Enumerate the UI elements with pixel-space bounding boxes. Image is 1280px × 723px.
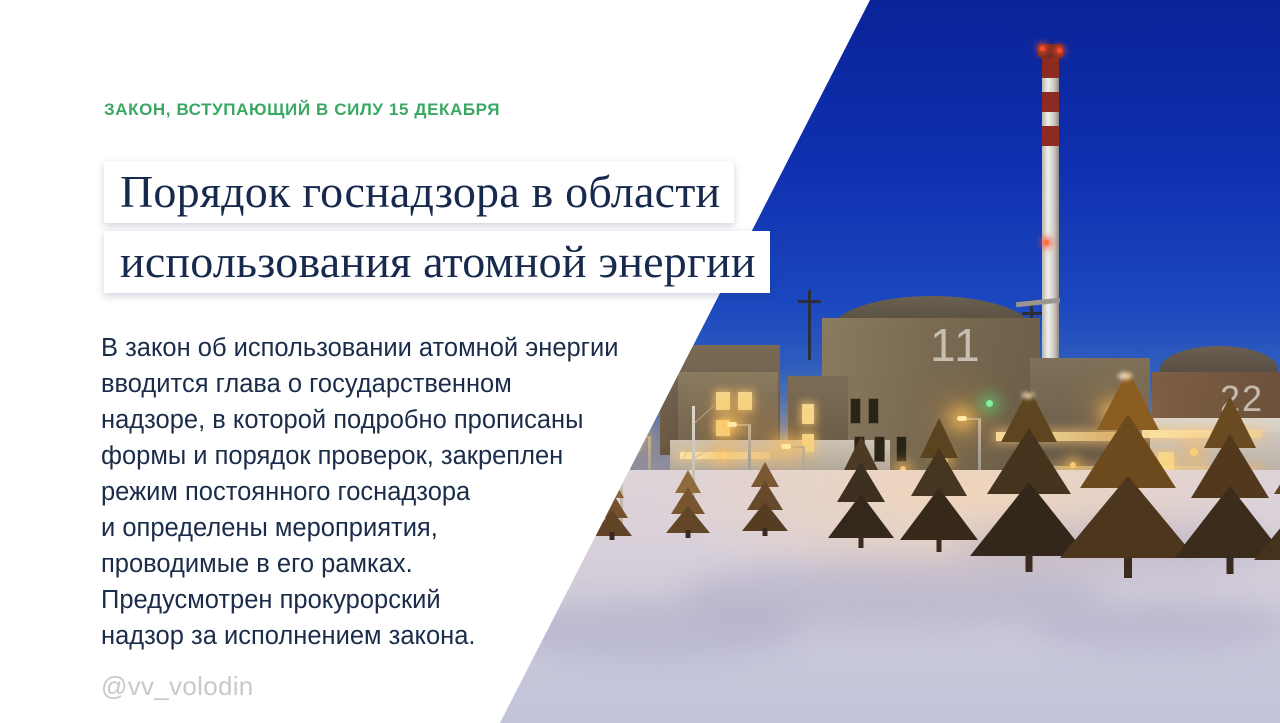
snow-highlight [1118, 372, 1132, 380]
body-line: надзоре, в которой подробно прописаны [101, 402, 711, 438]
distant-light [720, 452, 727, 459]
body-line: режим постоянного госнадзора [101, 474, 711, 510]
antenna-crossbar-icon [798, 300, 821, 303]
street-lamp-light-icon [727, 422, 737, 427]
reactor-number-label: 11 [930, 318, 982, 372]
body-line: Предусмотрен прокурорский [101, 582, 711, 618]
aircraft-warning-light-icon [1044, 240, 1049, 245]
body-line: надзор за исполнением закона. [101, 618, 711, 654]
body-paragraph: В закон об использовании атомной энергии… [101, 330, 711, 654]
fir-tree [828, 436, 894, 546]
body-line: вводится глава о государственном [101, 366, 711, 402]
chimney-band [1042, 58, 1059, 78]
watermark-handle: @vv_volodin [101, 671, 254, 702]
chimney-band [1042, 92, 1059, 112]
building-window [868, 398, 879, 424]
snow-shadow [1030, 600, 1280, 650]
building-window-lit [738, 392, 752, 410]
building-window-lit [716, 392, 730, 410]
body-line: формы и порядок проверок, закреплен [101, 438, 711, 474]
poster-canvas: 22 11 [0, 0, 1280, 723]
body-line: В закон об использовании атомной энергии [101, 330, 711, 366]
chimney-band [1042, 126, 1059, 146]
aircraft-warning-light-icon [1057, 48, 1062, 53]
page-title-line-2: использования атомной энергии [104, 231, 770, 293]
body-line: и определены мероприятия, [101, 510, 711, 546]
snow-highlight [1022, 392, 1034, 399]
building-window-lit [802, 404, 814, 424]
body-line: проводимые в его рамках. [101, 546, 711, 582]
kicker-label: ЗАКОН, ВСТУПАЮЩИЙ В СИЛУ 15 ДЕКАБРЯ [104, 100, 500, 120]
building-window [850, 398, 861, 424]
street-lamp-light-icon [781, 444, 791, 449]
aircraft-warning-light-icon [1040, 46, 1045, 51]
fir-tree-large [1254, 382, 1280, 578]
fir-tree [900, 418, 978, 550]
page-title-line-1: Порядок госнадзора в области [104, 161, 734, 223]
antenna-crossbar-icon [1022, 312, 1042, 315]
fir-tree [742, 462, 788, 532]
